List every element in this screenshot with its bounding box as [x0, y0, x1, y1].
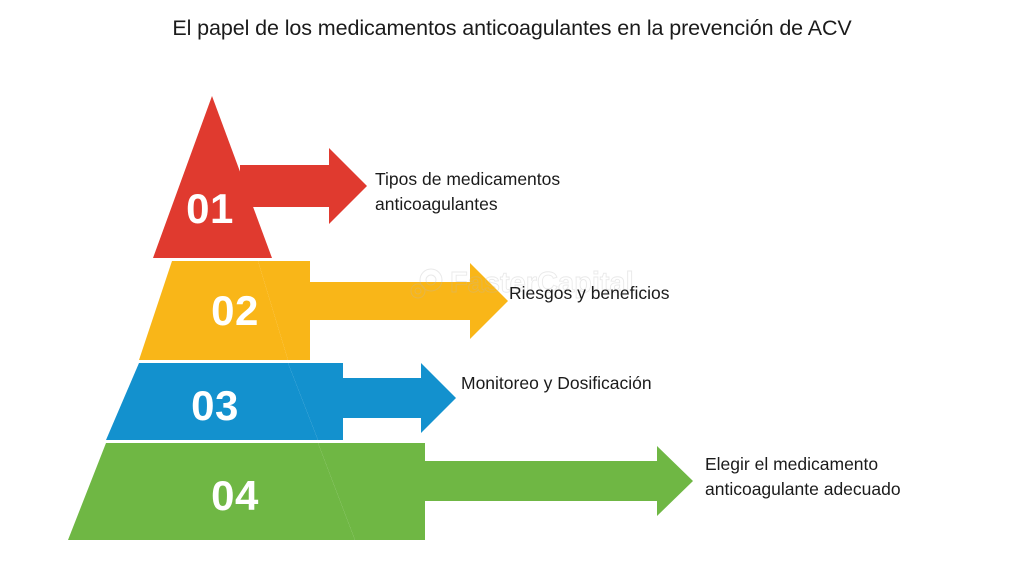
callout-label-01: Tipos de medicamentos anticoagulantes	[375, 167, 560, 217]
tier-03-number: 03	[191, 382, 239, 429]
callout-label-03: Monitoreo y Dosificación	[461, 371, 652, 396]
tier-04-number: 04	[211, 472, 259, 519]
pyramid-tier-04[interactable]: 04	[68, 443, 693, 540]
tier-01-arrow[interactable]	[240, 148, 367, 224]
infographic-canvas: El papel de los medicamentos anticoagula…	[0, 0, 1024, 583]
pyramid-tier-03[interactable]: 03	[106, 363, 456, 440]
callout-label-04: Elegir el medicamento anticoagulante ade…	[705, 452, 901, 502]
callout-label-02: Riesgos y beneficios	[509, 281, 670, 306]
tier-04-arrow[interactable]	[400, 446, 693, 516]
tier-02-number: 02	[211, 287, 259, 334]
pyramid-tier-01[interactable]: 01	[153, 96, 367, 258]
tier-02-arrow[interactable]	[302, 263, 508, 339]
pyramid-tier-02[interactable]: 02	[139, 261, 508, 360]
tier-01-number: 01	[186, 185, 234, 232]
